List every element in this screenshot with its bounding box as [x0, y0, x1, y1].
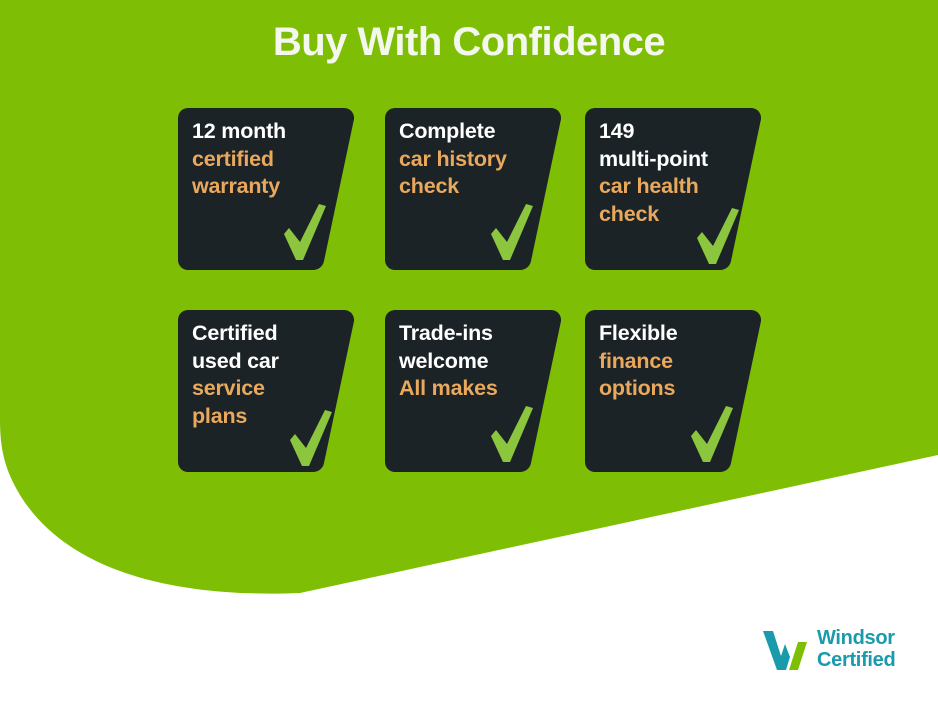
- benefit-card-certified-used-car-service-plans[interactable]: Certified used car service plans: [178, 310, 354, 472]
- card-line-accent: car health: [599, 173, 747, 201]
- card-line-white: Trade-ins: [399, 320, 547, 348]
- card-line-accent: warranty: [192, 173, 340, 201]
- poster-canvas: Buy With Confidence 12 month certified w…: [0, 0, 938, 704]
- benefit-card-12-month-certified-warranty[interactable]: 12 month certified warranty: [178, 108, 354, 270]
- benefit-card-flexible-finance-options[interactable]: Flexible finance options: [585, 310, 761, 472]
- brand-logo: Windsor Certified: [762, 628, 895, 671]
- check-mark-icon: [288, 410, 334, 468]
- card-text-block: 12 month certified warranty: [192, 118, 340, 201]
- card-line-white: welcome: [399, 348, 547, 376]
- logo-line-windsor: Windsor: [817, 628, 895, 650]
- benefit-card-trade-ins-welcome-all-makes[interactable]: Trade-ins welcome All makes: [385, 310, 561, 472]
- card-line-white: Certified: [192, 320, 340, 348]
- benefit-card-complete-car-history-check[interactable]: Complete car history check: [385, 108, 561, 270]
- card-line-accent: certified: [192, 146, 340, 174]
- card-line-white: multi-point: [599, 146, 747, 174]
- check-mark-icon: [489, 406, 535, 464]
- check-mark-icon: [695, 208, 741, 266]
- card-line-accent: options: [599, 375, 747, 403]
- logo-line-certified: Certified: [817, 650, 895, 672]
- page-title: Buy With Confidence: [0, 18, 938, 66]
- card-text-block: Flexible finance options: [599, 320, 747, 403]
- check-mark-icon: [689, 406, 735, 464]
- card-line-white: 149: [599, 118, 747, 146]
- benefit-card-149-multi-point-car-health-check[interactable]: 149 multi-point car health check: [585, 108, 761, 270]
- benefit-row-1: 12 month certified warranty: [178, 108, 778, 270]
- card-line-accent: All makes: [399, 375, 547, 403]
- windsor-w-mark-icon: [762, 629, 808, 671]
- card-line-white: used car: [192, 348, 340, 376]
- card-line-accent: check: [399, 173, 547, 201]
- card-line-white: Flexible: [599, 320, 747, 348]
- check-mark-icon: [282, 204, 328, 262]
- card-line-accent: finance: [599, 348, 747, 376]
- benefit-card-grid: 12 month certified warranty: [178, 108, 778, 472]
- card-line-accent: service: [192, 375, 340, 403]
- card-line-white: 12 month: [192, 118, 340, 146]
- logo-wordmark: Windsor Certified: [817, 628, 895, 671]
- card-line-accent: car history: [399, 146, 547, 174]
- card-text-block: Trade-ins welcome All makes: [399, 320, 547, 403]
- benefit-row-2: Certified used car service plans: [178, 310, 778, 472]
- check-mark-icon: [489, 204, 535, 262]
- card-line-white: Complete: [399, 118, 547, 146]
- card-text-block: Complete car history check: [399, 118, 547, 201]
